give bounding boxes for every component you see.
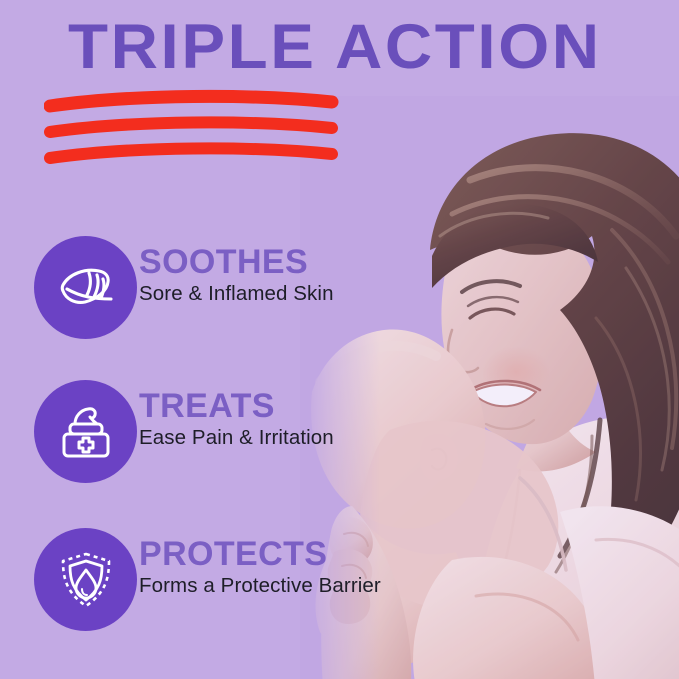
feature-subtitle: Forms a Protective Barrier: [139, 575, 569, 598]
triple-underline-strokes: [44, 88, 344, 169]
feature-row-treats: TREATS Ease Pain & Irritation: [0, 380, 679, 490]
feature-text-protects: PROTECTS Forms a Protective Barrier: [139, 536, 569, 598]
infographic-canvas: TRIPLE ACTION: [0, 0, 679, 679]
feature-heading: SOOTHES: [139, 244, 569, 281]
feature-heading: PROTECTS: [139, 536, 569, 573]
feature-subtitle: Ease Pain & Irritation: [139, 427, 569, 450]
feather-icon: [34, 236, 137, 339]
shield-droplet-icon: [34, 528, 137, 631]
page-title: TRIPLE ACTION: [68, 16, 602, 79]
feature-heading: TREATS: [139, 388, 569, 425]
cream-jar-medical-cross-icon: [34, 380, 137, 483]
feature-row-protects: PROTECTS Forms a Protective Barrier: [0, 528, 679, 638]
feature-text-treats: TREATS Ease Pain & Irritation: [139, 388, 569, 450]
feature-subtitle: Sore & Inflamed Skin: [139, 283, 569, 306]
feature-row-soothes: SOOTHES Sore & Inflamed Skin: [0, 236, 679, 346]
header-block: TRIPLE ACTION: [0, 0, 679, 185]
feature-text-soothes: SOOTHES Sore & Inflamed Skin: [139, 244, 569, 306]
